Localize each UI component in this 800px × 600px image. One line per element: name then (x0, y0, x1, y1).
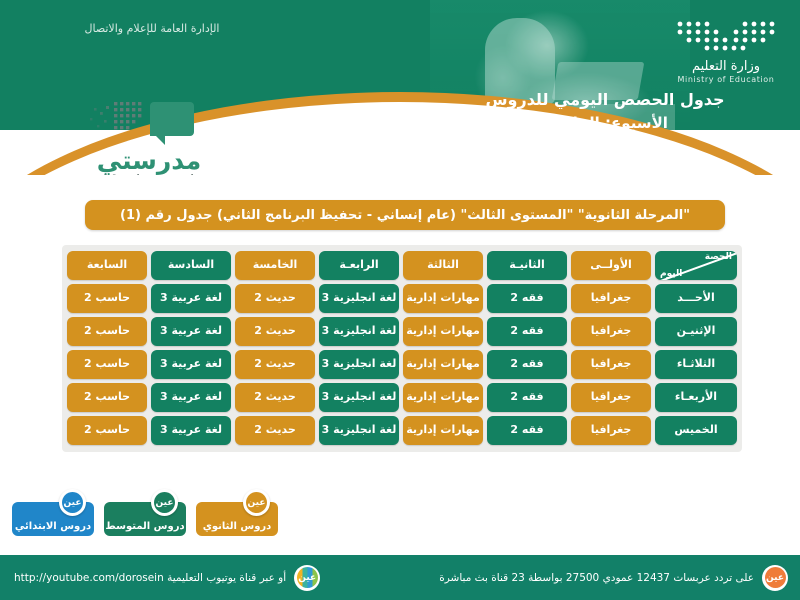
page-title: جدول الحصص اليومي للدروس (440, 88, 770, 112)
table-row: الأربعـاءجغرافيافقه 2مهارات إداريةلغة ان… (67, 383, 737, 412)
table-row: الأحـــدجغرافيافقه 2مهارات إداريةلغة انج… (67, 284, 737, 313)
lesson-cell[interactable]: حاسب 2 (67, 383, 147, 412)
lesson-cell[interactable]: لغة انجليزية 3 (319, 284, 399, 313)
corner-period-day-cell: الحصة اليوم (655, 251, 737, 280)
lesson-cell[interactable]: حديث 2 (235, 284, 315, 313)
day-cell: الإثنيـن (655, 317, 737, 346)
channel-badge[interactable]: عيندروس المتوسط (104, 502, 186, 536)
youtube-prefix: أو عبر قناة يوتيوب التعليمية (167, 572, 286, 584)
day-cell: الخميس (655, 416, 737, 445)
period-header-cell: الرابعـة (319, 251, 399, 280)
ministry-of-education-logo: وزارة التعليم Ministry of Education (666, 18, 786, 84)
lesson-cell[interactable]: لغة انجليزية 3 (319, 350, 399, 379)
channel-badge[interactable]: عيندروس الابتدائي (12, 502, 94, 536)
footer-broadcast-info: عين على تردد عربسات 12437 عمودي 27500 بو… (401, 565, 800, 591)
ain-logo-icon: عين (762, 565, 788, 591)
lesson-cell[interactable]: لغة عربية 3 (151, 383, 231, 412)
lesson-cell[interactable]: لغة عربية 3 (151, 416, 231, 445)
lesson-cell[interactable]: حديث 2 (235, 416, 315, 445)
lesson-cell[interactable]: حاسب 2 (67, 416, 147, 445)
day-cell: الثلاثـاء (655, 350, 737, 379)
lesson-cell[interactable]: جغرافيا (571, 416, 651, 445)
table-row: الثلاثـاءجغرافيافقه 2مهارات إداريةلغة ان… (67, 350, 737, 379)
lesson-cell[interactable]: فقه 2 (487, 284, 567, 313)
channel-badge-label: دروس المتوسط (105, 521, 184, 532)
ain-logo-icon: عين (151, 489, 178, 516)
lesson-cell[interactable]: حديث 2 (235, 350, 315, 379)
channel-badge[interactable]: عيندروس الثانوي (196, 502, 278, 536)
lesson-cell[interactable]: فقه 2 (487, 383, 567, 412)
ain-youtube-icon: عين (294, 565, 320, 591)
table-row: الإثنيـنجغرافيافقه 2مهارات إداريةلغة انج… (67, 317, 737, 346)
lesson-cell[interactable]: حديث 2 (235, 317, 315, 346)
youtube-line[interactable]: أو عبر قناة يوتيوب التعليمية http://yout… (14, 572, 286, 584)
channel-badge-label: دروس الثانوي (203, 521, 272, 532)
day-cell: الأربعـاء (655, 383, 737, 412)
table-header-row: الحصة اليوم الأولــىالثانيـةالثالثةالراب… (67, 251, 737, 280)
lesson-cell[interactable]: حاسب 2 (67, 284, 147, 313)
table-row: الخميسجغرافيافقه 2مهارات إداريةلغة انجلي… (67, 416, 737, 445)
lesson-cell[interactable]: حاسب 2 (67, 317, 147, 346)
period-header-cell: الأولــى (571, 251, 651, 280)
corner-day-label: اليوم (660, 269, 682, 279)
ministry-name-en: Ministry of Education (666, 75, 786, 84)
period-header-cell: الخامسة (235, 251, 315, 280)
period-header-cell: السابعة (67, 251, 147, 280)
lesson-cell[interactable]: لغة انجليزية 3 (319, 317, 399, 346)
page-footer: عين على تردد عربسات 12437 عمودي 27500 بو… (0, 555, 800, 600)
lesson-cell[interactable]: فقه 2 (487, 416, 567, 445)
footer-youtube-info: عين أو عبر قناة يوتيوب التعليمية http://… (0, 565, 401, 591)
lesson-cell[interactable]: لغة عربية 3 (151, 350, 231, 379)
lesson-cell[interactable]: فقه 2 (487, 317, 567, 346)
channel-badges: عيندروس الابتدائيعيندروس المتوسطعيندروس … (12, 502, 278, 536)
ain-logo-icon: عين (59, 489, 86, 516)
lesson-cell[interactable]: جغرافيا (571, 284, 651, 313)
lesson-cell[interactable]: جغرافيا (571, 350, 651, 379)
schedule-table: الحصة اليوم الأولــىالثانيـةالثالثةالراب… (62, 245, 742, 452)
lesson-cell[interactable]: حاسب 2 (67, 350, 147, 379)
lesson-cell[interactable]: لغة عربية 3 (151, 284, 231, 313)
ministry-dots-icon (674, 18, 778, 54)
lesson-cell[interactable]: لغة انجليزية 3 (319, 416, 399, 445)
broadcast-text: على تردد عربسات 12437 عمودي 27500 بواسطة… (439, 572, 754, 584)
ministry-name-ar: وزارة التعليم (666, 59, 786, 74)
youtube-url[interactable]: http://youtube.com/dorosein (14, 572, 164, 584)
lesson-cell[interactable]: جغرافيا (571, 317, 651, 346)
ain-logo-icon: عين (243, 489, 270, 516)
ain-coin-text: عين (765, 567, 786, 588)
period-header-cell: السادسة (151, 251, 231, 280)
lesson-cell[interactable]: لغة انجليزية 3 (319, 383, 399, 412)
madrasati-logo: مدرستي Madrasati (78, 98, 228, 175)
lesson-cell[interactable]: مهارات إدارية (403, 416, 483, 445)
ain-youtube-coin-text: عين (297, 567, 318, 588)
period-header-cell: الثانيـة (487, 251, 567, 280)
day-cell: الأحـــد (655, 284, 737, 313)
lesson-cell[interactable]: فقه 2 (487, 350, 567, 379)
period-header-cell: الثالثة (403, 251, 483, 280)
speech-bubble-icon (150, 102, 194, 136)
lesson-cell[interactable]: مهارات إدارية (403, 350, 483, 379)
lesson-cell[interactable]: جغرافيا (571, 383, 651, 412)
lesson-cell[interactable]: مهارات إدارية (403, 383, 483, 412)
madrasati-name-ar: مدرستي (78, 148, 220, 173)
page-title-block: جدول الحصص اليومي للدروس الأسبوع: الخامس (440, 88, 770, 135)
schedule-banner: "المرحلة الثانوية" "المستوى الثالث" (عام… (85, 200, 725, 230)
lesson-cell[interactable]: حديث 2 (235, 383, 315, 412)
ain-coin-text: عين (154, 492, 175, 513)
corner-period-label: الحصة (705, 252, 732, 262)
ain-coin-text: عين (246, 492, 267, 513)
lesson-cell[interactable]: مهارات إدارية (403, 284, 483, 313)
lesson-cell[interactable]: مهارات إدارية (403, 317, 483, 346)
lesson-cell[interactable]: لغة عربية 3 (151, 317, 231, 346)
department-label: الإدارة العامة للإعلام والاتصال (72, 22, 232, 35)
madrasati-mark-icon (88, 98, 228, 146)
page-header: الإدارة العامة للإعلام والاتصال وزارة ال… (0, 0, 800, 175)
ain-coin-text: عين (62, 492, 83, 513)
page-subtitle: الأسبوع: الخامس (440, 112, 770, 135)
channel-badge-label: دروس الابتدائي (15, 521, 91, 532)
